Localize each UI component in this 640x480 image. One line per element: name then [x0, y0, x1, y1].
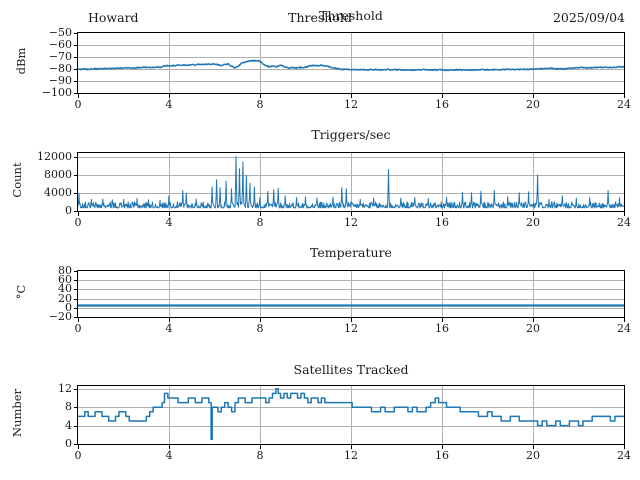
- x-tick-mark: [533, 318, 534, 322]
- x-tick-mark: [442, 445, 443, 449]
- y-tick-mark: [74, 444, 78, 445]
- x-tick-label: 16: [427, 449, 457, 462]
- x-tick-mark: [442, 318, 443, 322]
- y-tick-label: −50: [24, 26, 72, 39]
- y-axis-label-signal-threshold: dBm: [14, 16, 28, 106]
- y-tick-mark: [74, 308, 78, 309]
- x-tick-label: 24: [609, 449, 639, 462]
- x-tick-label: 8: [245, 322, 275, 335]
- x-tick-mark: [260, 212, 261, 216]
- y-tick-label: −60: [24, 38, 72, 51]
- data-trace-temperature: [78, 271, 624, 317]
- x-tick-label: 16: [427, 216, 457, 229]
- x-tick-mark: [169, 212, 170, 216]
- y-tick-mark: [74, 389, 78, 390]
- y-tick-mark: [74, 426, 78, 427]
- x-tick-label: 0: [63, 98, 93, 111]
- x-tick-label: 8: [245, 216, 275, 229]
- x-tick-label: 16: [427, 98, 457, 111]
- y-tick-mark: [74, 280, 78, 281]
- y-tick-label: 8000: [24, 168, 72, 181]
- x-tick-mark: [169, 445, 170, 449]
- figure-canvas: Howard Threshold 2025/09/04 Threshold Tr…: [0, 0, 640, 480]
- x-tick-label: 0: [63, 216, 93, 229]
- x-tick-mark: [78, 212, 79, 216]
- x-tick-mark: [260, 318, 261, 322]
- x-tick-label: 4: [154, 322, 184, 335]
- y-tick-mark: [74, 317, 78, 318]
- x-tick-mark: [624, 318, 625, 322]
- y-tick-mark: [74, 407, 78, 408]
- x-tick-label: 16: [427, 322, 457, 335]
- x-tick-label: 0: [63, 322, 93, 335]
- y-tick-mark: [74, 81, 78, 82]
- x-tick-mark: [351, 94, 352, 98]
- x-tick-label: 20: [518, 322, 548, 335]
- y-tick-label: −70: [24, 50, 72, 63]
- x-tick-label: 24: [609, 322, 639, 335]
- y-tick-label: 12000: [24, 150, 72, 163]
- x-tick-label: 24: [609, 98, 639, 111]
- x-tick-mark: [624, 445, 625, 449]
- x-tick-label: 4: [154, 449, 184, 462]
- y-tick-mark: [74, 175, 78, 176]
- x-tick-mark: [169, 94, 170, 98]
- x-tick-mark: [260, 94, 261, 98]
- x-tick-label: 8: [245, 449, 275, 462]
- x-tick-label: 20: [518, 216, 548, 229]
- y-tick-label: 80: [24, 264, 72, 277]
- plot-area-triggers-per-sec: [77, 152, 625, 212]
- x-tick-mark: [78, 94, 79, 98]
- plot-area-signal-threshold: [77, 32, 625, 94]
- y-tick-label: 4: [24, 419, 72, 432]
- y-tick-mark: [74, 193, 78, 194]
- y-tick-mark: [74, 57, 78, 58]
- x-tick-mark: [624, 94, 625, 98]
- x-tick-mark: [442, 212, 443, 216]
- x-tick-mark: [260, 445, 261, 449]
- y-tick-mark: [74, 271, 78, 272]
- x-tick-mark: [533, 445, 534, 449]
- x-tick-label: 4: [154, 216, 184, 229]
- y-tick-label: −80: [24, 62, 72, 75]
- plot-area-satellites-tracked: [77, 385, 625, 445]
- y-tick-mark: [74, 93, 78, 94]
- x-tick-mark: [351, 212, 352, 216]
- x-tick-mark: [624, 212, 625, 216]
- y-tick-mark: [74, 289, 78, 290]
- y-axis-label-temperature: °C: [14, 247, 28, 337]
- x-tick-mark: [169, 318, 170, 322]
- x-tick-label: 12: [336, 322, 366, 335]
- x-tick-mark: [442, 94, 443, 98]
- panel-title-satellites-tracked: Satellites Tracked: [77, 362, 625, 377]
- y-tick-mark: [74, 45, 78, 46]
- y-tick-mark: [74, 33, 78, 34]
- y-tick-mark: [74, 211, 78, 212]
- plot-area-temperature: [77, 270, 625, 318]
- x-tick-label: 8: [245, 98, 275, 111]
- x-tick-label: 12: [336, 216, 366, 229]
- data-trace-triggers-per-sec: [78, 153, 624, 211]
- y-tick-label: 8: [24, 400, 72, 413]
- y-tick-mark: [74, 157, 78, 158]
- data-trace-signal-threshold: [78, 33, 624, 93]
- y-tick-label: 12: [24, 382, 72, 395]
- x-tick-label: 4: [154, 98, 184, 111]
- panel-title-signal-threshold: Threshold: [77, 8, 625, 23]
- panel-title-triggers-per-sec: Triggers/sec: [77, 127, 625, 142]
- y-tick-mark: [74, 299, 78, 300]
- x-tick-label: 12: [336, 449, 366, 462]
- x-tick-mark: [533, 94, 534, 98]
- y-axis-label-satellites-tracked: Number: [10, 368, 24, 458]
- y-axis-label-triggers-per-sec: Count: [10, 135, 24, 225]
- data-trace-satellites-tracked: [78, 386, 624, 444]
- x-tick-mark: [351, 318, 352, 322]
- x-tick-label: 0: [63, 449, 93, 462]
- y-tick-label: −90: [24, 74, 72, 87]
- y-tick-label: 4000: [24, 186, 72, 199]
- x-tick-mark: [78, 445, 79, 449]
- x-tick-label: 20: [518, 449, 548, 462]
- panel-title-temperature: Temperature: [77, 245, 625, 260]
- x-tick-mark: [78, 318, 79, 322]
- x-tick-label: 20: [518, 98, 548, 111]
- x-tick-mark: [533, 212, 534, 216]
- x-tick-mark: [351, 445, 352, 449]
- x-tick-label: 24: [609, 216, 639, 229]
- y-tick-mark: [74, 69, 78, 70]
- x-tick-label: 12: [336, 98, 366, 111]
